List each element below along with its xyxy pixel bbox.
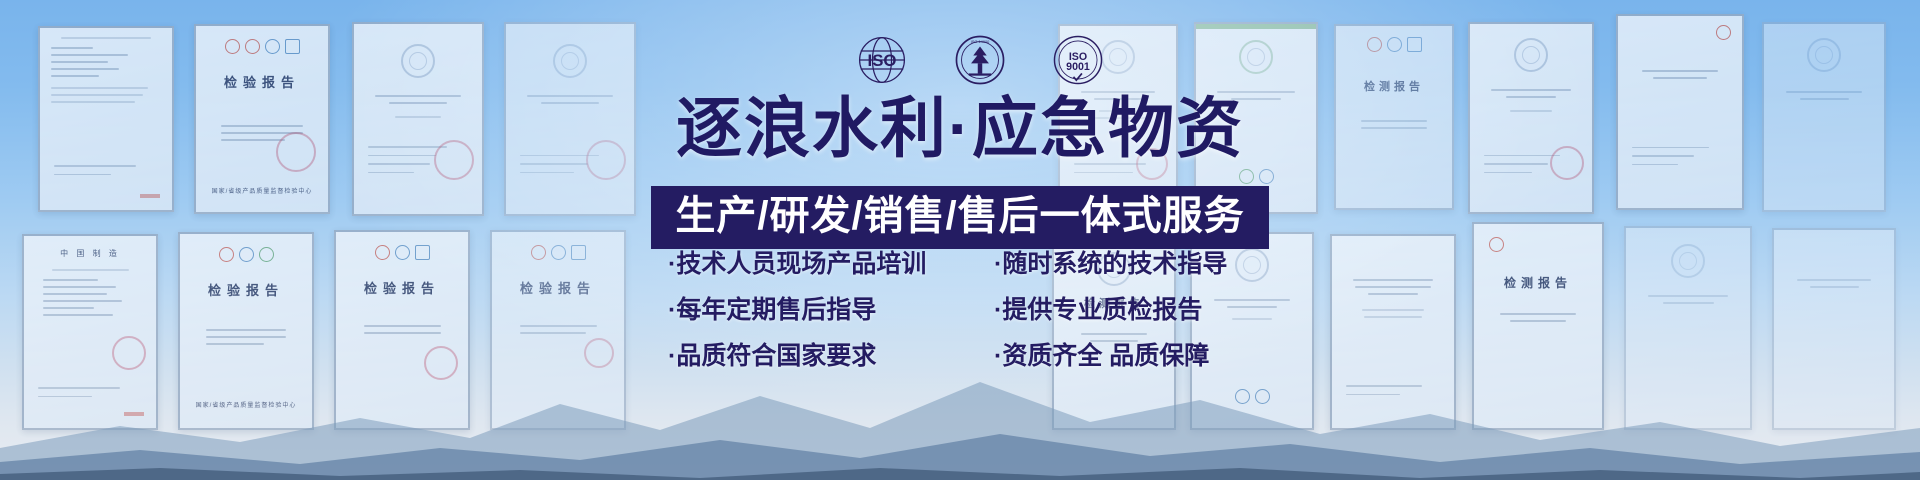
watermark-disk-icon — [1514, 38, 1548, 72]
certificate-card: 检测报告 — [1334, 24, 1454, 210]
certificate-title: 检验报告 — [191, 280, 301, 299]
certificate-footer: 国家/省级产品质量监督检验中心 — [196, 186, 328, 195]
cal-logo-icon — [1407, 37, 1422, 52]
certificate-card — [504, 22, 636, 216]
cqc-logo-icon — [1489, 237, 1504, 252]
cma-logo-icon — [1367, 37, 1382, 52]
red-round-seal — [586, 140, 626, 180]
certificate-title: 检验报告 — [207, 72, 317, 91]
ccc-logo-icon — [225, 39, 240, 54]
watermark-disk-icon — [1671, 244, 1705, 278]
red-round-seal — [1550, 146, 1584, 180]
watermark-disk-icon — [1101, 40, 1135, 74]
certificate-card — [38, 26, 174, 212]
cma-logo-icon — [245, 39, 260, 54]
cnas-logo-icon — [265, 39, 280, 54]
red-round-seal — [434, 140, 474, 180]
cnas-logo-icon — [1239, 169, 1254, 184]
cnas-logo-icon — [239, 247, 254, 262]
certificate-title: 检验报告 — [347, 278, 457, 297]
ccc-logo-icon — [531, 245, 546, 260]
certificate-card: 检验报告 国家/省级产品质量监督检验中心 — [194, 24, 330, 214]
cnas-logo-icon — [1387, 37, 1402, 52]
certificate-card — [1468, 22, 1594, 214]
cal-logo-icon — [285, 39, 300, 54]
mountain-silhouette — [0, 330, 1920, 480]
watermark-disk-icon — [1097, 252, 1131, 286]
certification-logo-row — [207, 39, 317, 54]
certificate-title: 检测报告 — [1485, 274, 1591, 291]
watermark-disk-icon — [553, 44, 587, 78]
ccc-logo-icon — [375, 245, 390, 260]
red-round-seal — [1136, 148, 1168, 180]
red-round-seal — [276, 132, 316, 172]
promotional-banner: 检验报告 国家/省级产品质量监督检验中心 — [0, 0, 1920, 480]
cal-logo-icon — [259, 247, 274, 262]
red-stamp-mark — [140, 194, 160, 198]
cqc-logo-icon — [1716, 25, 1731, 40]
watermark-disk-icon — [401, 44, 435, 78]
certificate-card — [1058, 24, 1178, 212]
watermark-disk-icon — [1235, 248, 1269, 282]
cnas-logo-icon — [395, 245, 410, 260]
iaf-logo-icon — [1259, 169, 1274, 184]
cal-logo-icon — [571, 245, 586, 260]
certificate-card — [1762, 22, 1886, 212]
certificate-title: 检验报告 — [503, 278, 613, 297]
watermark-disk-icon — [1239, 40, 1273, 74]
ccc-logo-icon — [219, 247, 234, 262]
green-header-band — [1196, 24, 1316, 29]
certificate-title: 检测报告 — [1065, 295, 1163, 311]
certificate-card — [1194, 22, 1318, 214]
cnas-logo-icon — [551, 245, 566, 260]
certificate-title: 检测报告 — [1347, 78, 1441, 94]
certificate-card — [352, 22, 484, 216]
cal-logo-icon — [415, 245, 430, 260]
certificate-card — [1616, 14, 1744, 210]
watermark-disk-icon — [1807, 38, 1841, 72]
